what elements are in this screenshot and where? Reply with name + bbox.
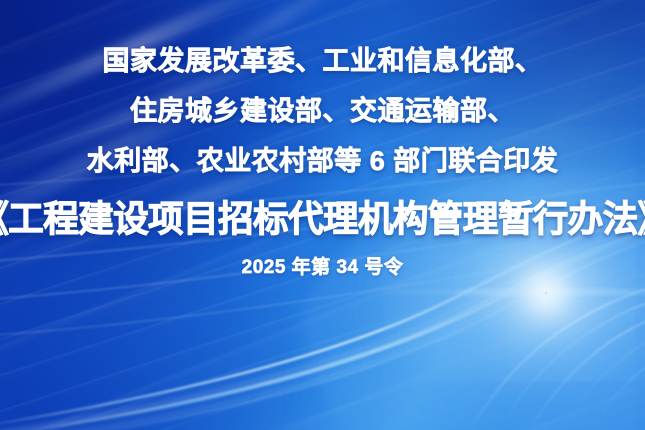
- headline-line-2: 住房城乡建设部、交通运输部、: [130, 98, 515, 125]
- headline-line-3: 水利部、农业农村部等 6 部门联合印发: [87, 148, 559, 175]
- decree-title: 《工程建设项目招标代理机构管理暂行办法》: [0, 201, 645, 237]
- decree-number: 2025 年第 34 号令: [242, 258, 404, 277]
- headline-line-1: 国家发展改革委、工业和信息化部、: [103, 48, 543, 75]
- policy-announcement-banner: 国家发展改革委、工业和信息化部、 住房城乡建设部、交通运输部、 水利部、农业农村…: [0, 0, 645, 430]
- banner-text-block: 国家发展改革委、工业和信息化部、 住房城乡建设部、交通运输部、 水利部、农业农村…: [0, 0, 645, 430]
